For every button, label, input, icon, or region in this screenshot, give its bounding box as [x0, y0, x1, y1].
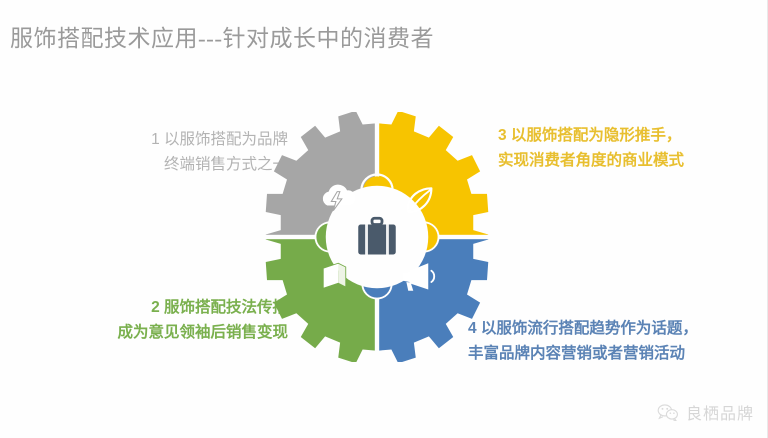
watermark-label: 良栖品牌 — [686, 400, 754, 424]
slide-canvas: 服饰搭配技术应用---针对成长中的消费者 1 以服饰搭配为品牌 终端销售方式之一… — [0, 0, 768, 438]
callout-4-line-2: 丰富品牌内容营销或者营销活动 — [468, 341, 764, 366]
book-icon — [323, 263, 346, 288]
gear-diagram-svg — [250, 112, 504, 362]
wechat-icon — [657, 403, 679, 421]
callout-3-line-1: 3 以服饰搭配为隐形推手， — [498, 123, 760, 148]
callout-3-line-2: 实现消费者角度的商业模式 — [498, 148, 760, 173]
gear-diagram — [250, 112, 504, 362]
callout-label-4: 4 以服饰流行搭配趋势作为话题， 丰富品牌内容营销或者营销活动 — [468, 316, 764, 366]
page-title: 服饰搭配技术应用---针对成长中的消费者 — [10, 24, 434, 54]
callout-label-3: 3 以服饰搭配为隐形推手， 实现消费者角度的商业模式 — [498, 123, 760, 173]
callout-4-line-1: 4 以服饰流行搭配趋势作为话题， — [468, 316, 764, 341]
watermark: 良栖品牌 — [657, 400, 754, 424]
